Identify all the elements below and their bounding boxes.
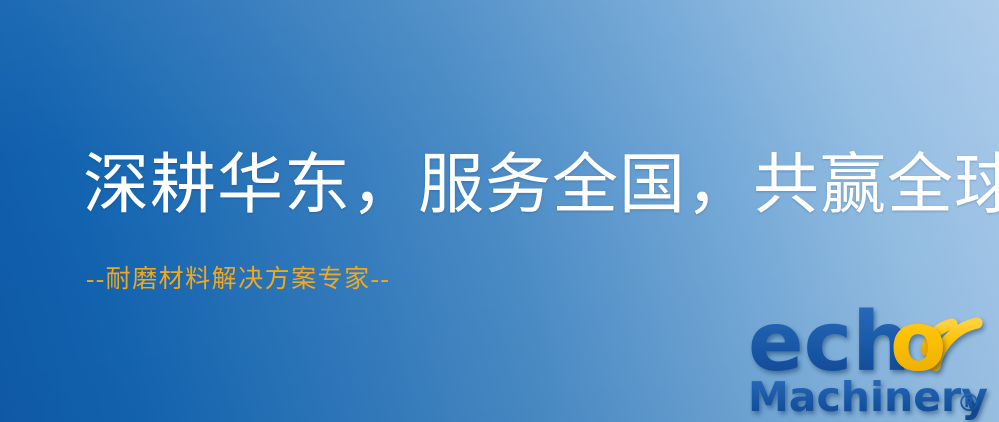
banner-headline: 深耕华东，服务全国，共赢全球 — [83, 151, 999, 221]
registered-trademark-icon: ® — [957, 389, 981, 417]
banner-subtitle: --耐磨材料解决方案专家-- — [86, 266, 390, 294]
logo-text-machinery: Machinery — [748, 373, 988, 421]
hero-banner: 深耕华东，服务全国，共赢全球 --耐磨材料解决方案专家-- — [0, 0, 999, 422]
echo-machinery-logo[interactable]: ech o Machinery ® — [744, 292, 999, 422]
